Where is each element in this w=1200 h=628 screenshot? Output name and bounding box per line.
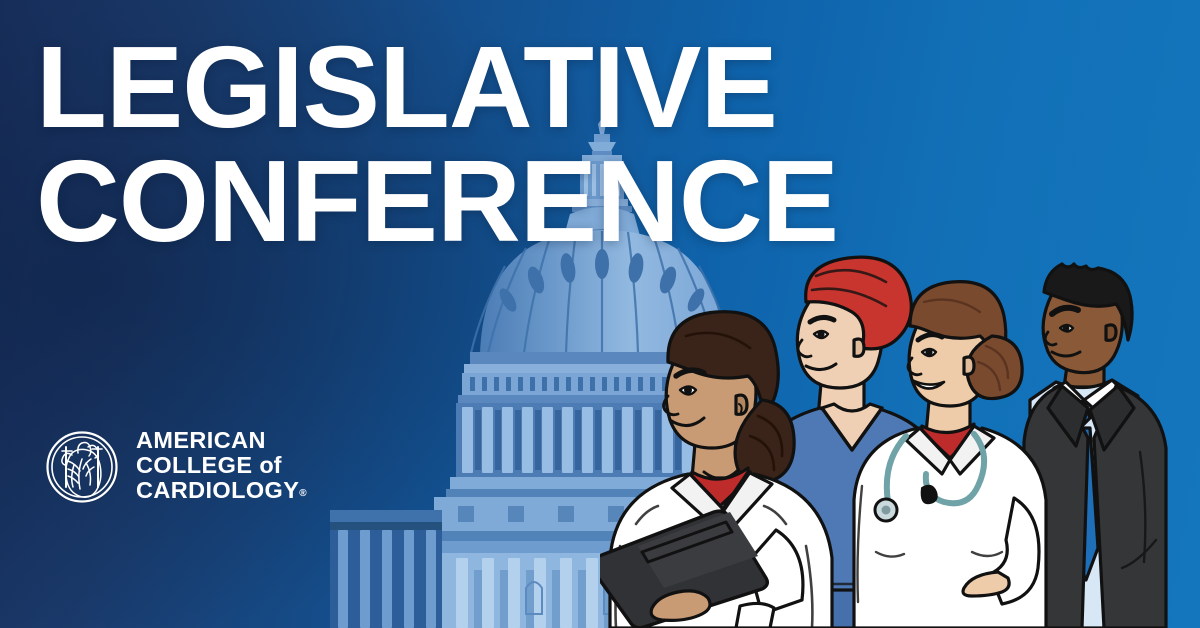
logo-word-college: COLLEGE xyxy=(136,452,252,478)
acc-logo[interactable]: AMERICAN COLLEGE of CARDIOLOGY® xyxy=(44,428,307,506)
registered-trademark-mark: ® xyxy=(299,488,307,499)
acc-heart-seal-icon xyxy=(44,429,120,505)
logo-line-college-of: COLLEGE of xyxy=(136,453,307,478)
banner-title: LEGISLATIVE CONFERENCE xyxy=(36,34,838,256)
legislative-conference-banner: LEGISLATIVE CONFERENCE xyxy=(0,0,1200,628)
logo-line-american: AMERICAN xyxy=(136,428,307,453)
acc-logo-wordmark: AMERICAN COLLEGE of CARDIOLOGY® xyxy=(136,428,307,506)
healthcare-professionals-illustration xyxy=(600,240,1200,628)
title-line-1: LEGISLATIVE xyxy=(36,34,838,142)
logo-word-of: of xyxy=(259,452,281,478)
capitol-left-wing xyxy=(330,510,442,628)
title-line-2: CONFERENCE xyxy=(36,148,838,256)
logo-line-cardiology: CARDIOLOGY® xyxy=(136,478,307,506)
logo-word-cardiology: CARDIOLOGY xyxy=(136,477,299,503)
